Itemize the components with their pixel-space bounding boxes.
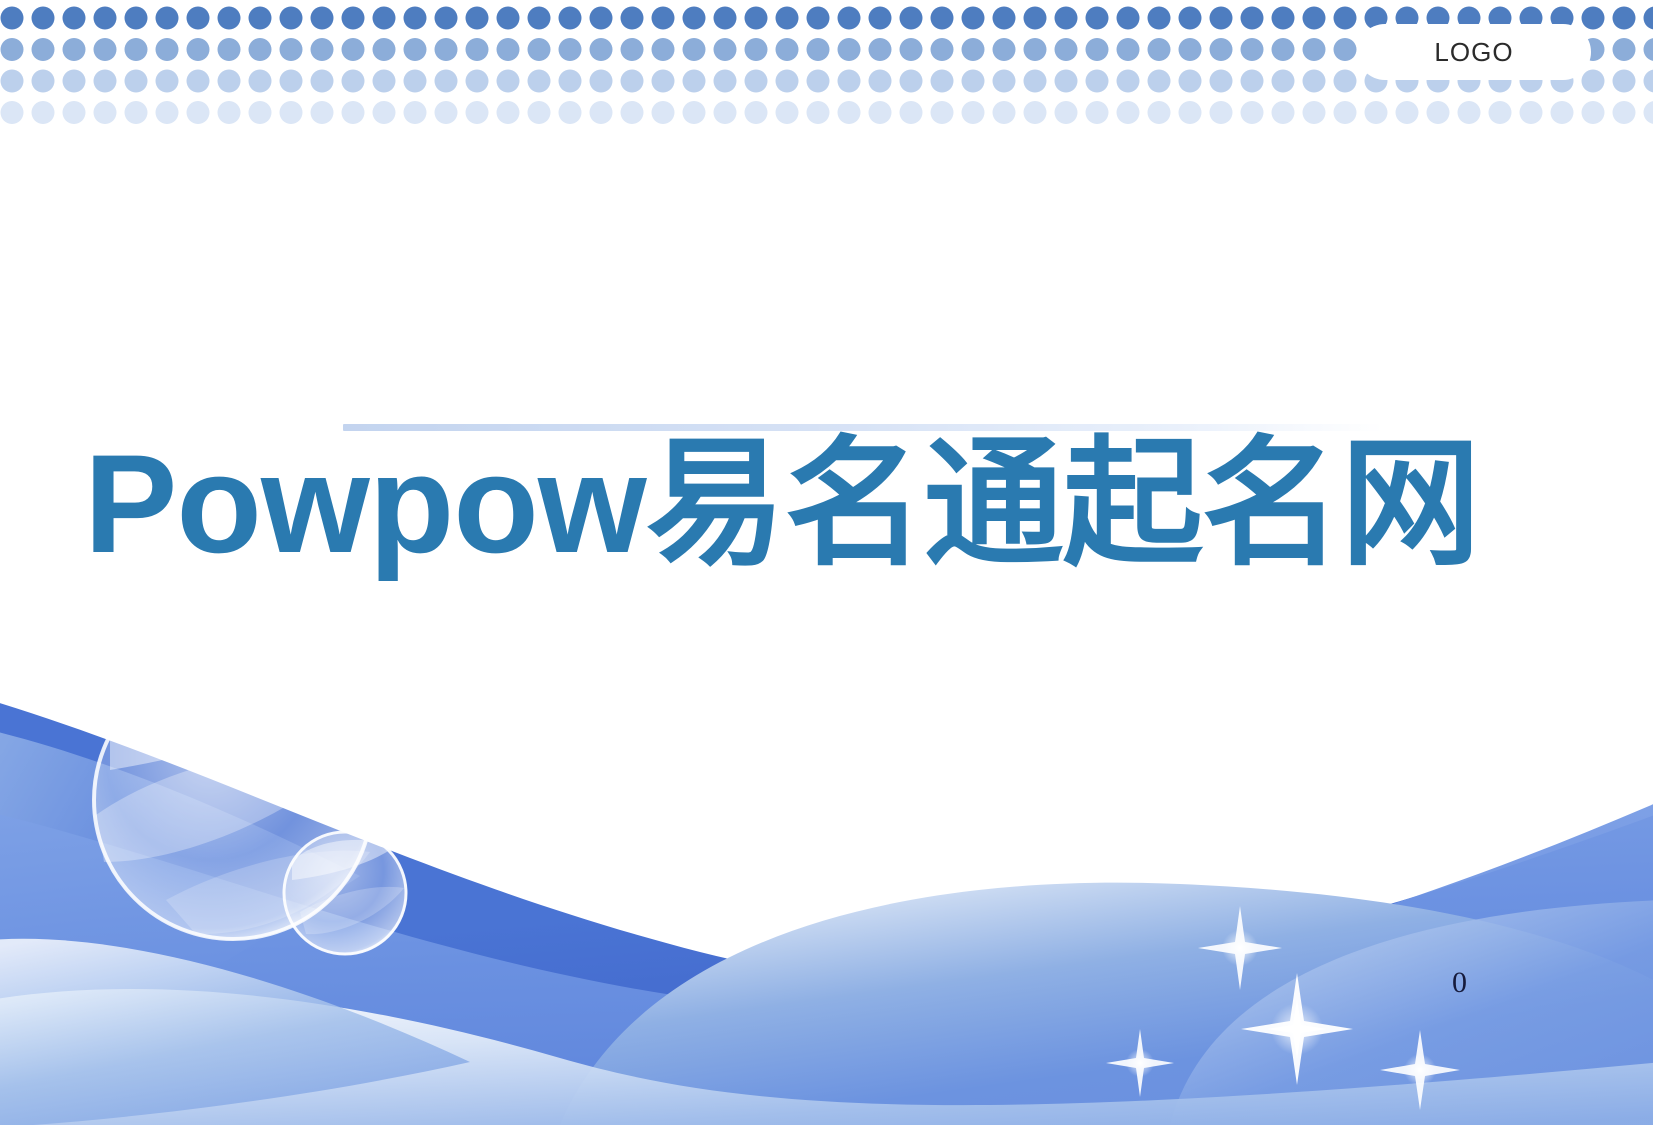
decorative-dot: [1303, 101, 1326, 124]
decorative-dot: [1334, 70, 1357, 93]
decorative-dot: [838, 101, 861, 124]
decorative-dot: [714, 101, 737, 124]
decorative-dot: [125, 38, 148, 61]
decorative-dot: [497, 101, 520, 124]
decorative-dot: [311, 70, 334, 93]
decorative-dot: [621, 7, 644, 30]
decorative-dot: [311, 38, 334, 61]
decorative-dot: [1, 7, 24, 30]
decorative-dot: [838, 7, 861, 30]
logo-placeholder[interactable]: LOGO: [1357, 24, 1591, 80]
decorative-dot: [962, 70, 985, 93]
decorative-dot: [466, 38, 489, 61]
decorative-dot: [1055, 7, 1078, 30]
decorative-dot: [931, 101, 954, 124]
decorative-dot: [187, 70, 210, 93]
decorative-dot: [652, 38, 675, 61]
decorative-dot: [1489, 101, 1512, 124]
decorative-dot: [590, 101, 613, 124]
decorative-dot: [1303, 38, 1326, 61]
decorative-dot: [776, 70, 799, 93]
decorative-dot: [838, 38, 861, 61]
mid-blue-wave: [0, 800, 1653, 1125]
decorative-dot: [187, 7, 210, 30]
decorative-dot: [900, 38, 923, 61]
decorative-dot: [993, 70, 1016, 93]
decorative-dot: [1272, 38, 1295, 61]
decorative-dot: [156, 7, 179, 30]
decorative-dot: [528, 7, 551, 30]
decorative-dot: [1613, 7, 1636, 30]
decorative-dot: [1086, 7, 1109, 30]
decorative-dot: [559, 101, 582, 124]
sparkle-4: [1380, 1030, 1460, 1110]
decorative-dot: [1613, 38, 1636, 61]
decorative-dot: [1, 101, 24, 124]
decorative-dot: [528, 70, 551, 93]
decorative-dot: [249, 7, 272, 30]
decorative-dot: [1055, 101, 1078, 124]
decorative-dot: [125, 7, 148, 30]
decorative-dot: [745, 101, 768, 124]
decorative-dot: [1179, 38, 1202, 61]
decorative-dot: [249, 101, 272, 124]
decorative-dot: [466, 7, 489, 30]
decorative-dot: [218, 101, 241, 124]
decorative-dot: [869, 38, 892, 61]
decorative-dot: [404, 70, 427, 93]
decorative-dot: [1179, 70, 1202, 93]
decorative-dot: [1303, 70, 1326, 93]
decorative-dot: [1458, 101, 1481, 124]
decorative-dot: [1241, 70, 1264, 93]
decorative-dot: [1613, 70, 1636, 93]
decorative-dot: [807, 7, 830, 30]
left-blue-wedge: [0, 730, 360, 1120]
decorative-dot: [652, 70, 675, 93]
decorative-dot: [156, 101, 179, 124]
decorative-dot: [156, 70, 179, 93]
decorative-dot: [280, 7, 303, 30]
decorative-dot: [993, 101, 1016, 124]
decorative-dot: [218, 7, 241, 30]
decorative-dot: [869, 70, 892, 93]
decorative-dot: [94, 7, 117, 30]
logo-label: LOGO: [1434, 39, 1513, 65]
pale-foreground-wave: [0, 989, 1653, 1125]
decorative-dot: [1024, 70, 1047, 93]
decorative-dot: [993, 7, 1016, 30]
decorative-dot: [962, 101, 985, 124]
decorative-dot: [776, 7, 799, 30]
right-secondary-dome: [1170, 900, 1653, 1125]
decorative-dot: [962, 7, 985, 30]
decorative-dot: [311, 7, 334, 30]
decorative-dot: [342, 38, 365, 61]
decorative-dot: [1179, 101, 1202, 124]
decorative-dot: [1148, 7, 1171, 30]
decorative-dot: [683, 38, 706, 61]
decorative-dot: [249, 70, 272, 93]
decorative-dot: [900, 70, 923, 93]
decorative-dot: [1365, 101, 1388, 124]
decorative-dot: [156, 38, 179, 61]
decorative-dot: [1644, 101, 1653, 124]
decorative-dot: [1334, 38, 1357, 61]
decorative-dot: [1396, 101, 1419, 124]
decorative-dot: [125, 70, 148, 93]
decorative-dot: [683, 7, 706, 30]
large-bubble: [93, 660, 373, 940]
decorative-dot: [900, 7, 923, 30]
sparkle-1: [1241, 973, 1353, 1085]
decorative-dot: [125, 101, 148, 124]
decorative-dot: [1210, 70, 1233, 93]
decorative-dot: [1272, 70, 1295, 93]
decorative-dot: [900, 101, 923, 124]
decorative-dot: [1551, 101, 1574, 124]
decorative-dot: [280, 38, 303, 61]
decorative-dot: [280, 101, 303, 124]
decorative-dot: [745, 38, 768, 61]
decorative-dot: [1303, 7, 1326, 30]
decorative-dot: [249, 38, 272, 61]
decorative-dot: [528, 38, 551, 61]
decorative-dot: [1644, 7, 1653, 30]
decorative-dot: [32, 38, 55, 61]
decorative-dot: [1210, 101, 1233, 124]
decorative-dot: [621, 101, 644, 124]
decorative-dot: [621, 70, 644, 93]
sparkle-3: [1106, 1029, 1174, 1097]
decorative-dot: [218, 70, 241, 93]
decorative-dot: [373, 70, 396, 93]
decorative-dot: [931, 38, 954, 61]
decorative-dot: [1334, 101, 1357, 124]
decorative-dot: [590, 7, 613, 30]
decorative-dot: [1086, 101, 1109, 124]
decorative-dot: [1024, 38, 1047, 61]
decorative-dot: [559, 70, 582, 93]
decorative-dot: [94, 70, 117, 93]
sparkle-2: [1198, 906, 1282, 990]
decorative-dot: [63, 70, 86, 93]
decorative-dot: [1179, 7, 1202, 30]
decorative-dot: [435, 38, 458, 61]
decorative-dot: [32, 7, 55, 30]
decorative-dot: [869, 101, 892, 124]
decorative-dot: [807, 38, 830, 61]
decorative-dot: [435, 70, 458, 93]
decorative-dot: [1117, 38, 1140, 61]
decorative-dot: [528, 101, 551, 124]
decorative-dot: [1055, 38, 1078, 61]
decorative-dot: [590, 38, 613, 61]
deep-blue-wave: [0, 700, 1653, 1125]
decorative-dot: [993, 38, 1016, 61]
decorative-dot: [1241, 101, 1264, 124]
decorative-dot: [1427, 101, 1450, 124]
right-light-dome: [560, 883, 1653, 1125]
decorative-dot: [838, 70, 861, 93]
decorative-dot: [1241, 7, 1264, 30]
decorative-dot: [466, 70, 489, 93]
decorative-dot: [94, 101, 117, 124]
pale-left-wash: [0, 939, 470, 1125]
slide-canvas: LOGO Powpow易名通起名网 0: [0, 0, 1653, 1125]
small-bubble: [283, 831, 407, 955]
decorative-dot: [32, 101, 55, 124]
decorative-dot: [404, 38, 427, 61]
decorative-dot: [1334, 7, 1357, 30]
decorative-dot: [590, 70, 613, 93]
decorative-dot: [63, 38, 86, 61]
decorative-dot: [218, 38, 241, 61]
decorative-dot: [404, 7, 427, 30]
decorative-dot: [63, 7, 86, 30]
decorative-dot: [931, 7, 954, 30]
decorative-dot: [1272, 101, 1295, 124]
decorative-dot: [497, 7, 520, 30]
decorative-dot: [1148, 101, 1171, 124]
decorative-dot: [32, 70, 55, 93]
decorative-dot: [1148, 70, 1171, 93]
decorative-dot: [559, 38, 582, 61]
decorative-dot: [497, 38, 520, 61]
decorative-dot: [311, 101, 334, 124]
decorative-dot: [1520, 101, 1543, 124]
decorative-dot: [466, 101, 489, 124]
decorative-dot: [683, 101, 706, 124]
decorative-dot: [342, 101, 365, 124]
decorative-dot: [280, 70, 303, 93]
decorative-dot: [652, 7, 675, 30]
decorative-dot: [1644, 38, 1653, 61]
decorative-dot: [714, 7, 737, 30]
decorative-dot: [94, 38, 117, 61]
decorative-dot: [807, 101, 830, 124]
decorative-dot: [1210, 38, 1233, 61]
decorative-dot: [1086, 38, 1109, 61]
decorative-dot: [962, 38, 985, 61]
decorative-dot: [559, 7, 582, 30]
decorative-dot: [1582, 7, 1605, 30]
decorative-dot: [435, 101, 458, 124]
decorative-dot: [1241, 38, 1264, 61]
decorative-dot: [745, 70, 768, 93]
decorative-dot: [1117, 7, 1140, 30]
decorative-dot: [869, 7, 892, 30]
decorative-dot: [714, 38, 737, 61]
decorative-dot: [187, 101, 210, 124]
decorative-dot: [373, 7, 396, 30]
decorative-dot: [683, 70, 706, 93]
decorative-dot: [931, 70, 954, 93]
decorative-dot: [497, 70, 520, 93]
decorative-dot: [1210, 7, 1233, 30]
decorative-dot: [1148, 38, 1171, 61]
decorative-dot: [435, 7, 458, 30]
decorative-dot: [776, 38, 799, 61]
decorative-dot: [373, 101, 396, 124]
decorative-dot: [187, 38, 210, 61]
decorative-dot: [1613, 101, 1636, 124]
decorative-dot: [1024, 101, 1047, 124]
decorative-dot: [1644, 70, 1653, 93]
decorative-dot: [342, 70, 365, 93]
decorative-dot: [652, 101, 675, 124]
page-title: Powpow易名通起名网: [84, 430, 1584, 577]
decorative-dot: [63, 101, 86, 124]
decorative-dot: [1024, 7, 1047, 30]
sparkles: [1106, 906, 1460, 1110]
decorative-dot: [745, 7, 768, 30]
page-number: 0: [1452, 968, 1467, 998]
decorative-dot: [373, 38, 396, 61]
decorative-dot: [1, 70, 24, 93]
decorative-dot: [776, 101, 799, 124]
decorative-dot: [714, 70, 737, 93]
decorative-dot: [1, 38, 24, 61]
decorative-dot: [1582, 70, 1605, 93]
decorative-dot: [807, 70, 830, 93]
decorative-dot: [1117, 101, 1140, 124]
decorative-dot: [1055, 70, 1078, 93]
decorative-dot: [1582, 101, 1605, 124]
decorative-dot: [1086, 70, 1109, 93]
decorative-dot: [621, 38, 644, 61]
decorative-dot: [342, 7, 365, 30]
decorative-dot: [1117, 70, 1140, 93]
decorative-dot: [1272, 7, 1295, 30]
decorative-dot: [404, 101, 427, 124]
